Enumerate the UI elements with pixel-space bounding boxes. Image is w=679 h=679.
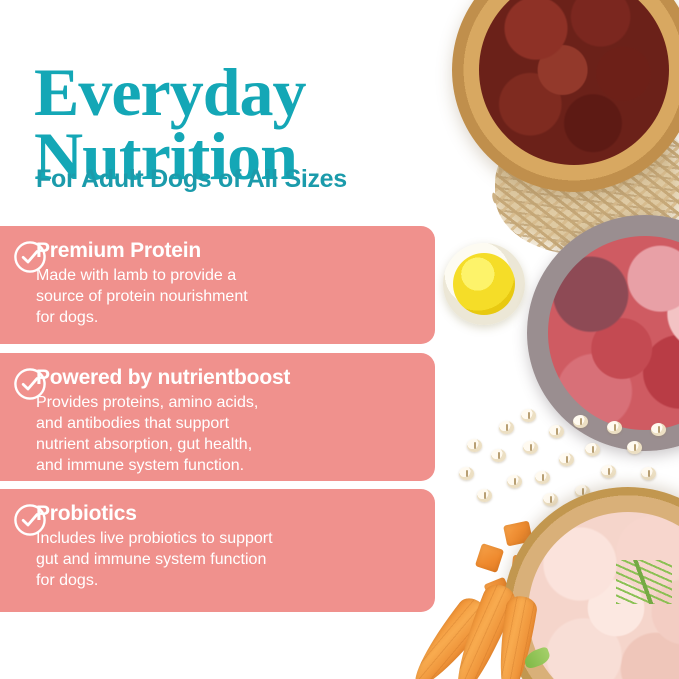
check-circle-icon xyxy=(13,240,47,274)
feature-card-body: Includes live probiotics to support gut … xyxy=(34,529,419,591)
feature-card-body: Provides proteins, amino acids, and anti… xyxy=(34,393,419,476)
feature-card-body-line: Includes live probiotics to support xyxy=(36,529,419,550)
feature-card-body-line: for dogs. xyxy=(36,571,419,592)
feature-card-body-line: for dogs. xyxy=(36,308,419,329)
feature-card-body-line: nutrient absorption, gut health, xyxy=(36,435,419,456)
feature-card-body-line: gut and immune system function xyxy=(36,550,419,571)
feature-card-title: Powered by nutrientboost xyxy=(34,365,419,391)
check-circle-icon xyxy=(13,503,47,537)
feature-card-body: Made with lamb to provide a source of pr… xyxy=(34,266,419,328)
content-layer: Everyday Nutrition For Adult Dogs of All… xyxy=(0,0,679,679)
feature-card-nutrientboost: Powered by nutrientboost Provides protei… xyxy=(0,353,435,481)
feature-card-probiotics: Probiotics Includes live probiotics to s… xyxy=(0,489,435,612)
feature-card-body-line: Made with lamb to provide a xyxy=(36,266,419,287)
product-infographic: Everyday Nutrition For Adult Dogs of All… xyxy=(0,0,679,679)
feature-card-body-line: source of protein nourishment xyxy=(36,287,419,308)
feature-card-body-line: and antibodies that support xyxy=(36,414,419,435)
feature-card-title: Premium Protein xyxy=(34,238,419,264)
feature-card-body-line: and immune system function. xyxy=(36,456,419,477)
feature-card-premium-protein: Premium Protein Made with lamb to provid… xyxy=(0,226,435,344)
feature-card-body-line: Provides proteins, amino acids, xyxy=(36,393,419,414)
check-circle-icon xyxy=(13,367,47,401)
feature-card-title: Probiotics xyxy=(34,501,419,527)
page-subtitle: For Adult Dogs of All Sizes xyxy=(36,165,347,194)
